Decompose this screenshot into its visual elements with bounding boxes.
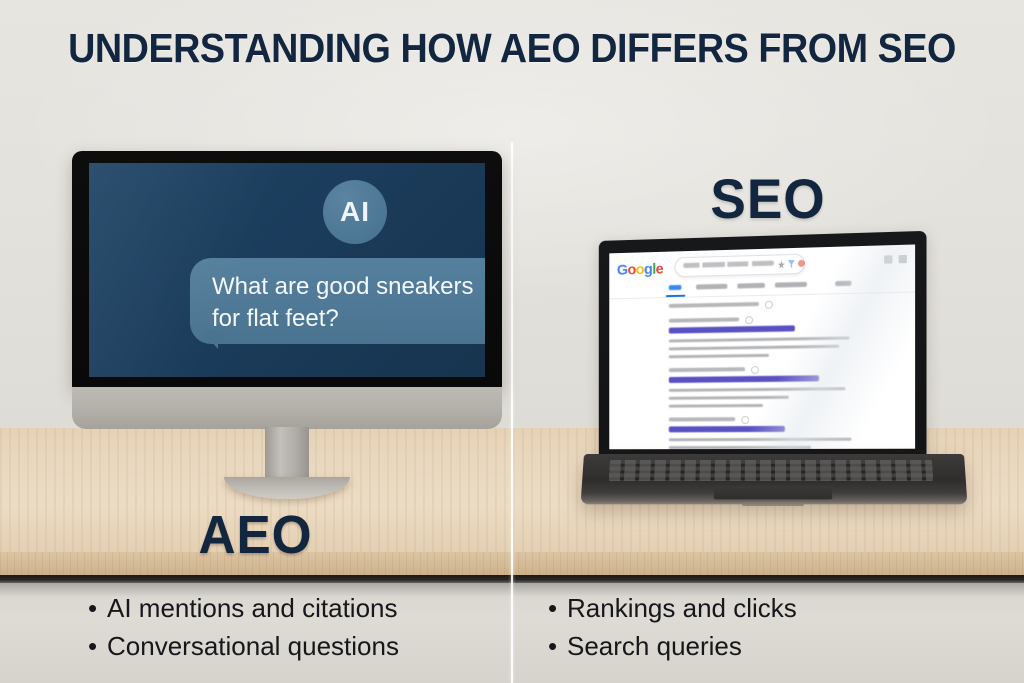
ai-avatar: AI: [323, 180, 387, 244]
bullet-dot-icon: •: [88, 589, 107, 627]
result-source: [669, 317, 739, 322]
result-snippet-line: [669, 345, 839, 351]
search-result-item[interactable]: [669, 416, 854, 449]
monitor-screen: AI What are good sneakers for flat feet?: [89, 163, 485, 377]
list-item: •Rankings and clicks: [548, 589, 797, 627]
result-snippet-line: [669, 438, 852, 442]
clear-icon[interactable]: [778, 260, 785, 268]
laptop-front-notch: [742, 502, 804, 506]
bullet-dot-icon: •: [548, 627, 567, 665]
result-title-link[interactable]: [669, 426, 785, 432]
google-search-results-page: Google: [609, 244, 915, 449]
avatar[interactable]: [899, 255, 907, 263]
laptop-screen: Google: [609, 244, 915, 449]
tab-shopping[interactable]: [775, 282, 807, 288]
bullet-text: Search queries: [567, 631, 742, 661]
list-item: •AI mentions and citations: [88, 589, 399, 627]
meta-text: [669, 302, 759, 308]
result-snippet-line: [669, 387, 846, 392]
tab-images[interactable]: [696, 284, 727, 290]
monitor-chin: [72, 387, 502, 429]
apps-grid-icon[interactable]: [884, 255, 892, 263]
laptop-trackpad[interactable]: [714, 486, 833, 499]
bullet-text: Conversational questions: [107, 631, 399, 661]
laptop: Google: [584, 236, 964, 516]
tab-news[interactable]: [835, 281, 851, 286]
bullet-dot-icon: •: [548, 589, 567, 627]
microphone-icon[interactable]: [788, 260, 795, 268]
serp-meta-line: [669, 302, 759, 308]
laptop-keyboard[interactable]: [609, 460, 933, 481]
ai-question-bubble: What are good sneakers for flat feet?: [190, 258, 485, 344]
tab-videos[interactable]: [737, 283, 765, 289]
search-query-text: [683, 261, 774, 268]
laptop-lid: Google: [599, 231, 927, 462]
bullet-dot-icon: •: [88, 627, 107, 665]
label-aeo: AEO: [13, 504, 498, 566]
seo-bullet-list: •Rankings and clicks •Search queries: [548, 589, 797, 666]
serp-header: Google: [609, 244, 915, 284]
search-input[interactable]: [675, 254, 805, 277]
favicon-icon: [741, 416, 749, 424]
favicon-icon: [765, 301, 773, 309]
page-title: UNDERSTANDING HOW AEO DIFFERS FROM SEO: [41, 26, 983, 72]
result-snippet-line: [669, 404, 763, 408]
favicon-icon: [751, 366, 759, 374]
lens-camera-icon[interactable]: [798, 260, 805, 267]
search-result-item[interactable]: [669, 315, 850, 358]
bubble-tail-icon: [192, 331, 218, 349]
list-item: •Conversational questions: [88, 627, 399, 665]
result-source: [669, 367, 745, 372]
serp-divider: [609, 291, 915, 299]
bullet-text: Rankings and clicks: [567, 593, 797, 623]
tab-all[interactable]: [669, 285, 682, 290]
search-result-item[interactable]: [669, 366, 846, 408]
aeo-bullet-list: •AI mentions and citations •Conversation…: [88, 589, 399, 666]
vertical-divider: [511, 142, 513, 683]
label-seo: SEO: [525, 166, 1011, 231]
result-source: [669, 417, 735, 421]
result-title-link[interactable]: [669, 375, 819, 383]
google-logo: Google: [617, 261, 663, 279]
result-snippet-line: [669, 336, 850, 342]
list-item: •Search queries: [548, 627, 797, 665]
poster-canvas: UNDERSTANDING HOW AEO DIFFERS FROM SEO A…: [0, 0, 1024, 683]
bullet-text: AI mentions and citations: [107, 593, 398, 623]
result-snippet-line: [669, 446, 811, 449]
result-snippet-line: [669, 354, 769, 358]
favicon-icon: [745, 316, 753, 324]
result-snippet-line: [669, 396, 789, 400]
desktop-monitor: AI What are good sneakers for flat feet?: [72, 151, 502, 429]
result-title-link[interactable]: [669, 325, 795, 333]
